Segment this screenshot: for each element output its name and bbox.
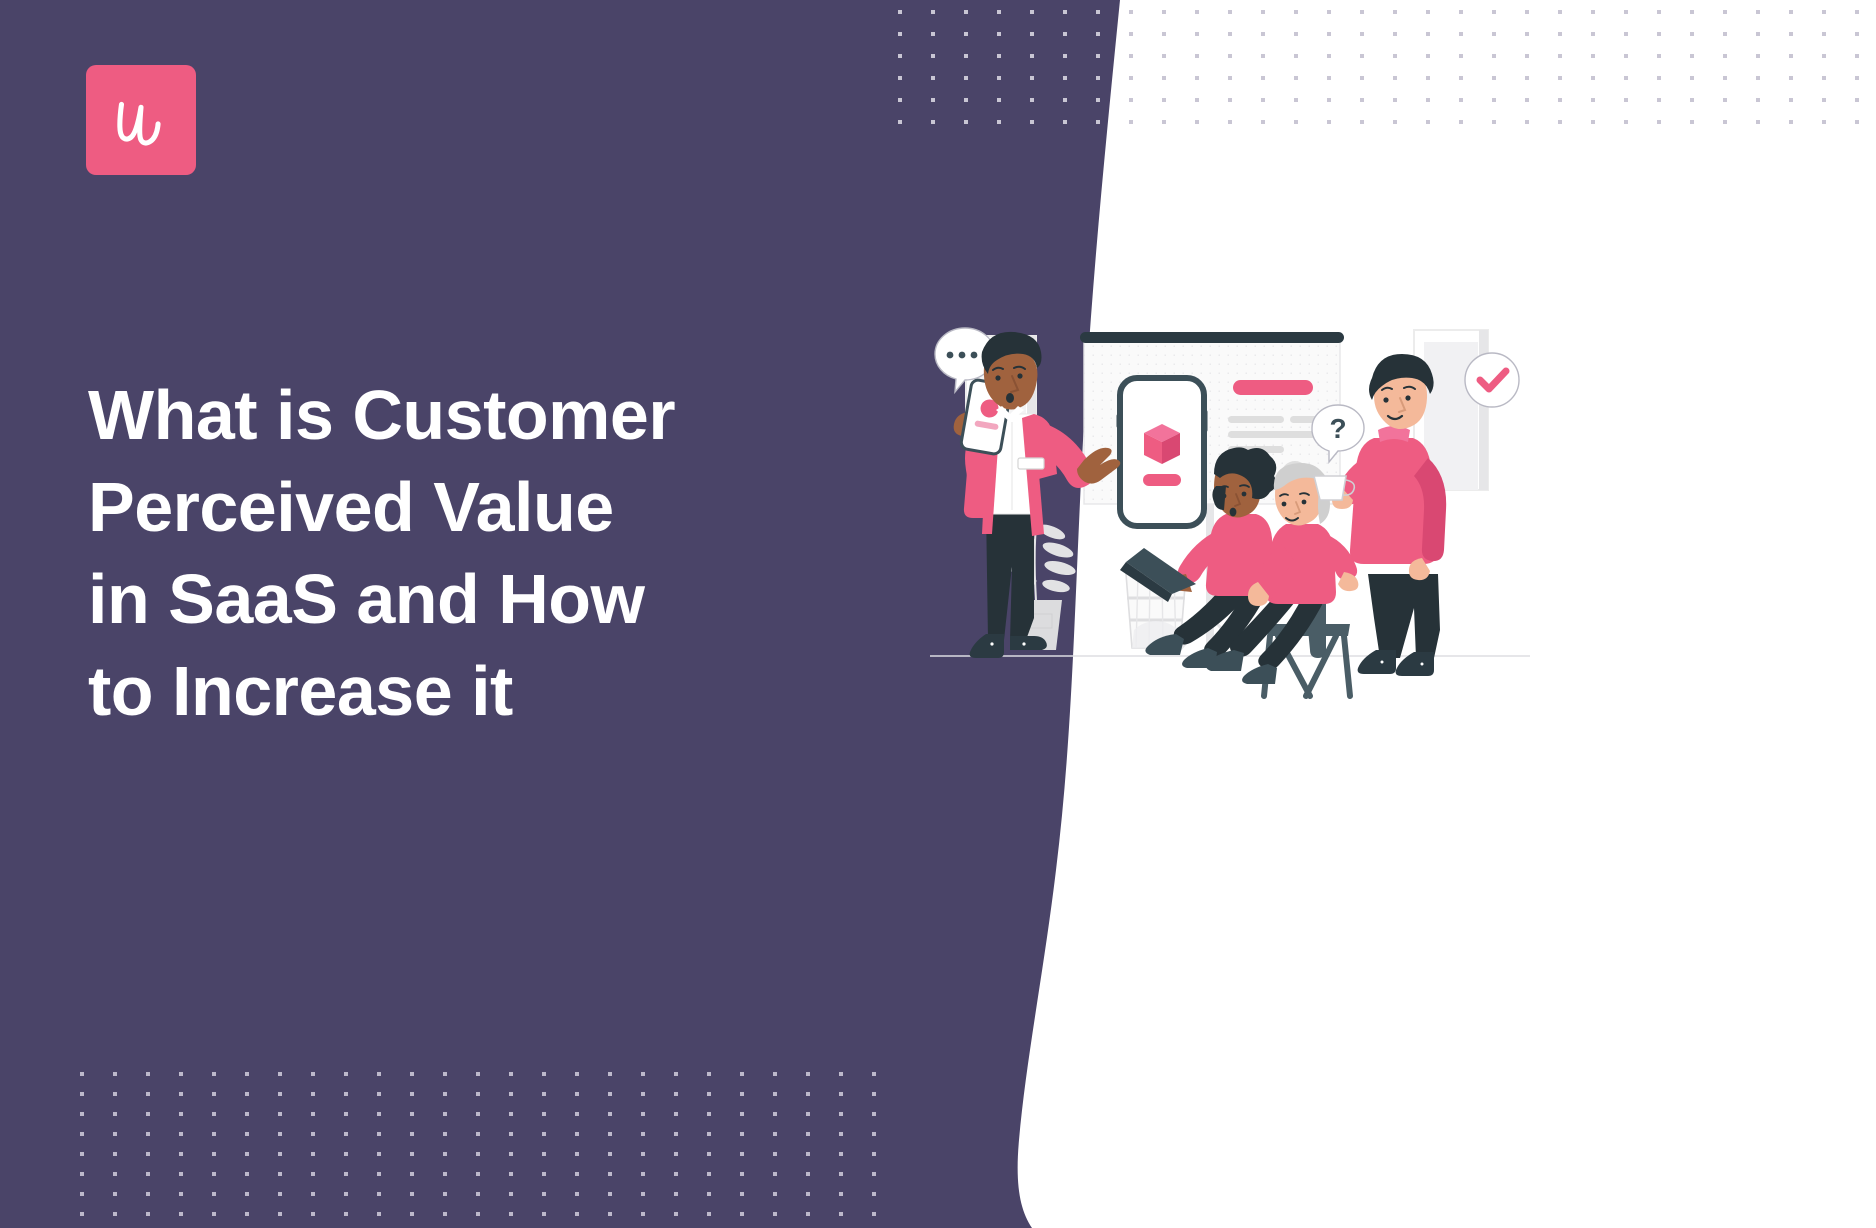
name-badge [1018,458,1044,469]
logo-u-glyph [102,81,180,159]
featured-image-canvas: What is Customer Perceived Value in SaaS… [0,0,1876,1228]
page-title-line-4: to Increase it [88,645,828,737]
page-title-line-3: in SaaS and How [88,553,828,645]
userpilot-logo[interactable] [86,65,196,175]
badge-check [1465,353,1519,407]
cube-caption-bar [1143,474,1181,486]
page-title: What is Customer Perceived Value in SaaS… [88,369,828,737]
svg-text:?: ? [1329,413,1346,444]
page-title-line-1: What is Customer [88,369,828,461]
page-title-line-2: Perceived Value [88,461,828,553]
woman-head [1212,447,1276,517]
phone-mockup [1117,378,1208,526]
team-presentation-illustration: ? [930,318,1530,718]
presenter-trousers [986,508,1034,640]
board-title-bar [1233,380,1313,395]
whiteboard-top-bar [1080,332,1344,343]
